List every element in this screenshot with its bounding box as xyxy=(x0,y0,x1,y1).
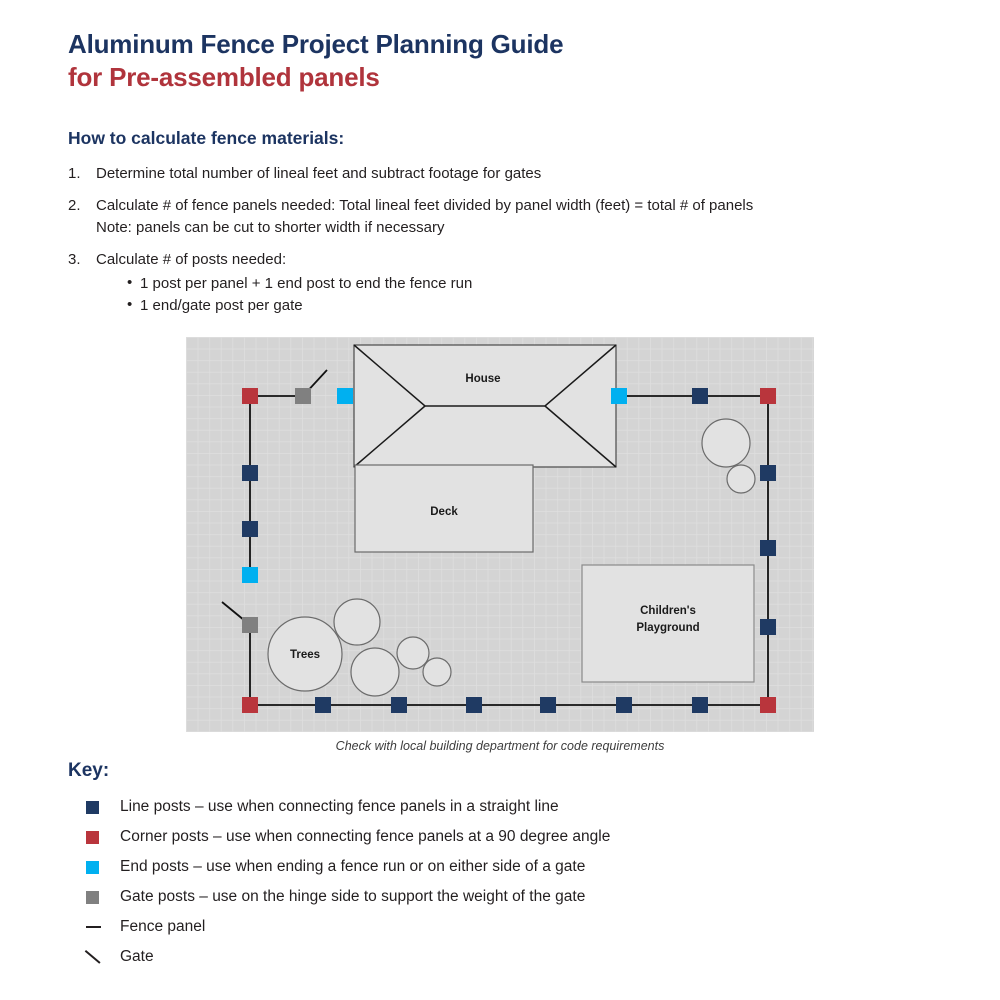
key-item-label: Fence panel xyxy=(120,919,205,935)
key-item-label: Line posts – use when connecting fence p… xyxy=(120,799,559,815)
gate-swatch-icon xyxy=(86,949,102,965)
step-3-bullet-1: 1 post per panel + 1 end post to end the… xyxy=(96,273,948,295)
end-post-swatch-icon xyxy=(86,861,99,874)
post-line xyxy=(242,521,258,537)
key-item-label: Corner posts – use when connecting fence… xyxy=(120,829,610,845)
howto-step-2: 2. Calculate # of fence panels needed: T… xyxy=(68,195,948,238)
page-title: Aluminum Fence Project Planning Guide xyxy=(68,28,948,61)
swatch-cell xyxy=(68,861,120,874)
fence-panel-swatch-icon xyxy=(86,926,101,928)
swatch-cell xyxy=(68,926,120,928)
swatch-cell xyxy=(68,801,120,814)
key-item-gate-posts: Gate posts – use on the hinge side to su… xyxy=(68,882,948,912)
line-post-swatch-icon xyxy=(86,801,99,814)
yard-plan-diagram: House Deck Children's Playground xyxy=(186,337,814,732)
step-3-bullets: 1 post per panel + 1 end post to end the… xyxy=(96,273,948,317)
page-subtitle: for Pre-assembled panels xyxy=(68,61,948,94)
house-label: House xyxy=(465,373,500,385)
howto-heading: How to calculate fence materials: xyxy=(68,128,948,149)
post-end xyxy=(611,388,627,404)
gate-post-swatch-icon xyxy=(86,891,99,904)
post-corner xyxy=(760,388,776,404)
post-line xyxy=(315,697,331,713)
key-heading: Key: xyxy=(68,760,948,782)
key-legend: Key: Line posts – use when connecting fe… xyxy=(68,760,948,972)
post-line xyxy=(466,697,482,713)
post-corner xyxy=(242,388,258,404)
post-line xyxy=(760,540,776,556)
title-block: Aluminum Fence Project Planning Guide fo… xyxy=(68,28,948,95)
post-line xyxy=(692,388,708,404)
key-item-line-posts: Line posts – use when connecting fence p… xyxy=(68,792,948,822)
key-item-label: Gate posts – use on the hinge side to su… xyxy=(120,889,585,905)
post-line xyxy=(760,465,776,481)
post-line xyxy=(616,697,632,713)
post-corner xyxy=(242,697,258,713)
playground-label-line1: Children's xyxy=(640,605,696,617)
key-item-gate: Gate xyxy=(68,942,948,972)
step-text: Calculate # of posts needed: 1 post per … xyxy=(96,249,948,317)
step-3-bullet-2: 1 end/gate post per gate xyxy=(96,295,948,317)
post-end xyxy=(337,388,353,404)
post-line xyxy=(540,697,556,713)
post-gate xyxy=(242,617,258,633)
step-number: 3. xyxy=(68,249,96,317)
swatch-cell xyxy=(68,891,120,904)
diagram-canvas: House Deck Children's Playground xyxy=(186,337,814,732)
key-item-label: End posts – use when ending a fence run … xyxy=(120,859,585,875)
post-line xyxy=(692,697,708,713)
key-item-corner-posts: Corner posts – use when connecting fence… xyxy=(68,822,948,852)
step-text: Determine total number of lineal feet an… xyxy=(96,163,948,184)
deck-label: Deck xyxy=(430,506,458,518)
step-text-primary: Calculate # of fence panels needed: Tota… xyxy=(96,195,948,216)
diagram-caption: Check with local building department for… xyxy=(186,739,814,753)
key-item-end-posts: End posts – use when ending a fence run … xyxy=(68,852,948,882)
step-text-note: Note: panels can be cut to shorter width… xyxy=(96,217,948,238)
trees-label: Trees xyxy=(290,649,320,661)
howto-section: How to calculate fence materials: 1. Det… xyxy=(68,128,948,328)
post-line xyxy=(391,697,407,713)
step-number: 1. xyxy=(68,163,96,184)
post-corner xyxy=(760,697,776,713)
key-item-fence-panel: Fence panel xyxy=(68,912,948,942)
step-number: 2. xyxy=(68,195,96,238)
swatch-cell xyxy=(68,831,120,844)
playground-label-line2: Playground xyxy=(636,622,699,634)
post-line xyxy=(760,619,776,635)
corner-post-swatch-icon xyxy=(86,831,99,844)
page-root: Aluminum Fence Project Planning Guide fo… xyxy=(0,0,1000,1000)
swatch-cell xyxy=(68,949,120,965)
post-line xyxy=(242,465,258,481)
step-text-primary: Calculate # of posts needed: xyxy=(96,249,948,270)
post-end xyxy=(242,567,258,583)
step-text: Calculate # of fence panels needed: Tota… xyxy=(96,195,948,238)
howto-step-1: 1. Determine total number of lineal feet… xyxy=(68,163,948,184)
howto-step-3: 3. Calculate # of posts needed: 1 post p… xyxy=(68,249,948,317)
key-item-label: Gate xyxy=(120,949,154,965)
post-gate xyxy=(295,388,311,404)
house-shape xyxy=(354,345,616,467)
